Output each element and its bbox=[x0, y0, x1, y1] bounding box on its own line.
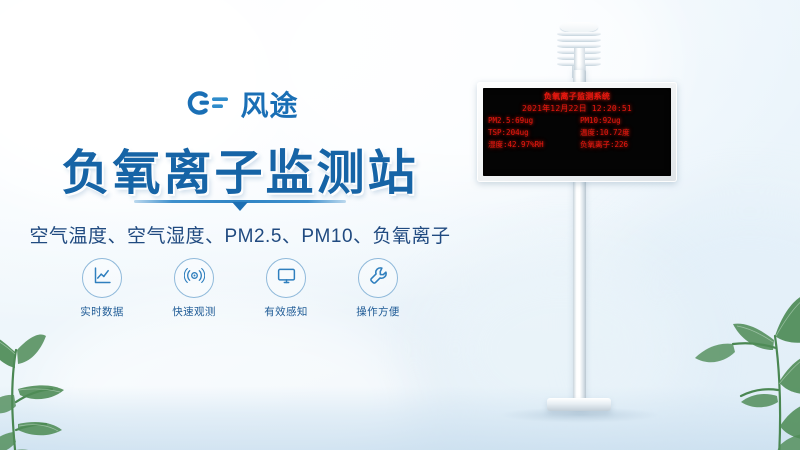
feature-item-fast-observation[interactable]: 快速观测 bbox=[163, 258, 225, 319]
wrench-icon bbox=[368, 265, 389, 291]
led-datetime: 2021年12月22日 12:20:51 bbox=[488, 103, 666, 114]
radar-scan-icon bbox=[184, 265, 205, 291]
sensor-louver-plate bbox=[557, 32, 601, 36]
led-display-frame: 负氧离子监测系统 2021年12月22日 12:20:51 PM2.5:69ug… bbox=[477, 82, 677, 182]
feature-icon-circle bbox=[358, 258, 398, 298]
led-display-screen[interactable]: 负氧离子监测系统 2021年12月22日 12:20:51 PM2.5:69ug… bbox=[483, 88, 671, 176]
divider-arrow-icon bbox=[232, 202, 248, 211]
led-reading-humidity: 湿度:42.97%RH bbox=[488, 140, 576, 150]
brand-lockup: 风途 bbox=[0, 88, 480, 123]
led-readings-grid: PM2.5:69ug PM10:92ug TSP:204ug 温度:10.72度… bbox=[488, 116, 666, 150]
led-reading-temperature: 温度:10.72度 bbox=[578, 128, 666, 138]
feature-item-realtime-data[interactable]: 实时数据 bbox=[71, 258, 133, 319]
page-title: 负氧离子监测站 bbox=[0, 133, 480, 203]
feature-icon-circle bbox=[82, 258, 122, 298]
led-reading-pm10: PM10:92ug bbox=[578, 116, 666, 126]
promo-banner: 风途 负氧离子监测站 空气温度、空气湿度、PM2.5、PM10、负氧离子 bbox=[0, 0, 800, 450]
brand-name: 风途 bbox=[240, 92, 298, 120]
feature-list: 实时数据 快速观测 bbox=[0, 258, 480, 319]
pole-base-plate bbox=[547, 398, 611, 411]
sensor-cap bbox=[560, 22, 598, 32]
title-divider bbox=[0, 200, 480, 211]
feature-label: 操作方便 bbox=[347, 304, 409, 319]
feature-icon-circle bbox=[174, 258, 214, 298]
feature-label: 有效感知 bbox=[255, 304, 317, 319]
subtitle: 空气温度、空气湿度、PM2.5、PM10、负氧离子 bbox=[0, 221, 480, 248]
line-chart-icon bbox=[92, 265, 113, 291]
led-reading-tsp: TSP:204ug bbox=[488, 128, 576, 138]
led-reading-pm25: PM2.5:69ug bbox=[488, 116, 576, 126]
led-readout: 负氧离子监测系统 2021年12月22日 12:20:51 PM2.5:69ug… bbox=[483, 92, 671, 150]
feature-item-easy-operation[interactable]: 操作方便 bbox=[347, 258, 409, 319]
feature-item-effective-sensing[interactable]: 有效感知 bbox=[255, 258, 317, 319]
monitor-screen-icon bbox=[276, 265, 297, 291]
led-reading-negative-ion: 负氧离子:226 bbox=[578, 140, 666, 150]
led-display-title: 负氧离子监测系统 bbox=[488, 92, 666, 102]
text-column: 风途 负氧离子监测站 空气温度、空气湿度、PM2.5、PM10、负氧离子 bbox=[0, 0, 480, 450]
fengtu-wind-g-logo-icon bbox=[181, 88, 233, 123]
feature-label: 快速观测 bbox=[163, 304, 225, 319]
monitoring-station: 负氧离子监测系统 2021年12月22日 12:20:51 PM2.5:69ug… bbox=[430, 0, 800, 450]
feature-label: 实时数据 bbox=[71, 304, 133, 319]
sensor-louver-plate bbox=[557, 38, 601, 42]
feature-icon-circle bbox=[266, 258, 306, 298]
